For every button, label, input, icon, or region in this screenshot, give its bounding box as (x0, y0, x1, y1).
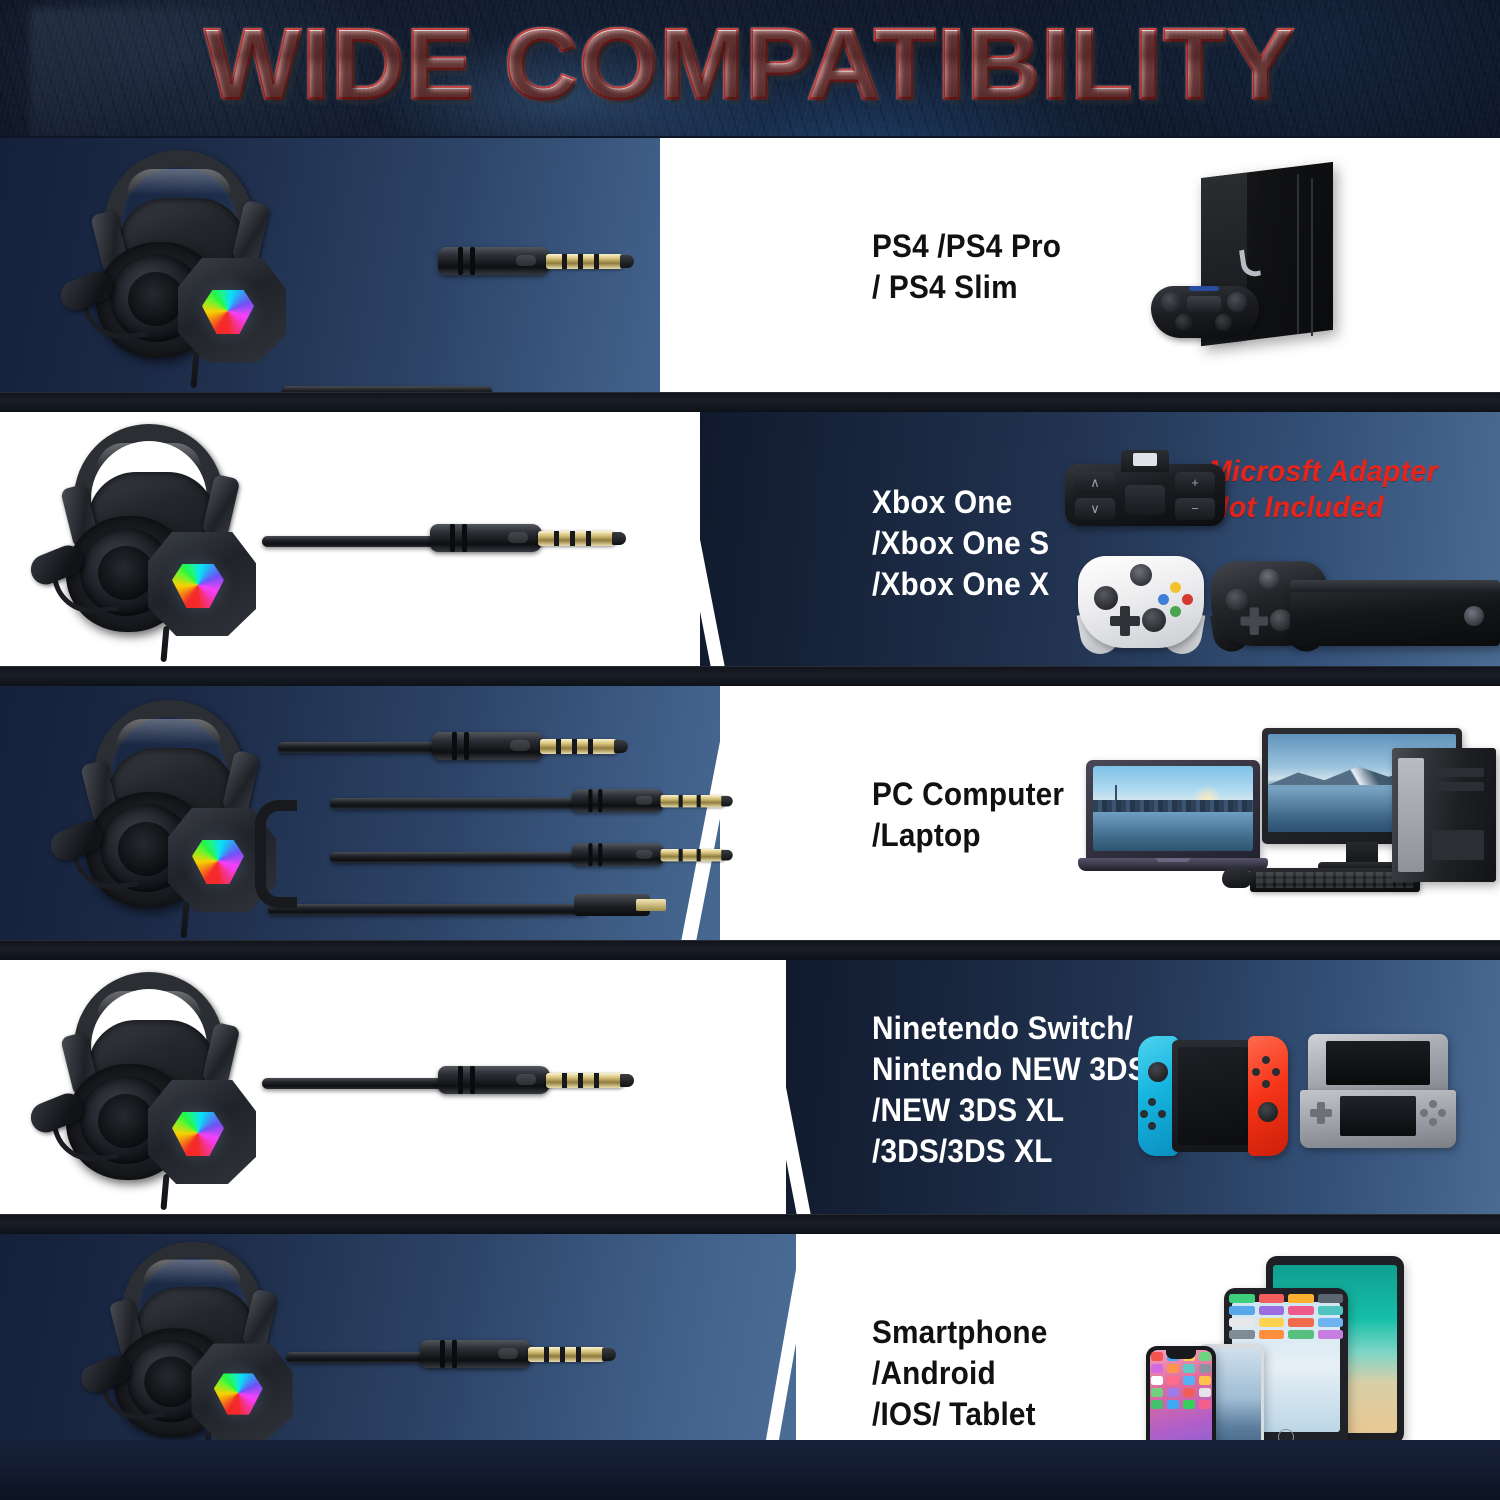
joycon-dpad-up (1148, 1098, 1156, 1106)
splitter-female-jack-contact (636, 899, 666, 911)
plug-pin (546, 1073, 626, 1088)
headset-image (86, 1238, 302, 1440)
laptop-image (1078, 760, 1268, 878)
button-x (1158, 594, 1169, 605)
plug-3-5mm-icon (432, 728, 620, 764)
plug-3-5mm-icon (430, 520, 618, 556)
plug-tip (602, 1348, 616, 1361)
button-y (1170, 582, 1181, 593)
plug-3-5mm-icon (438, 1062, 626, 1098)
plug-barrel (438, 247, 550, 275)
plug-tip (721, 796, 732, 807)
joycon-dpad-down (1148, 1122, 1156, 1130)
adapter-mute-icon[interactable] (1125, 485, 1165, 515)
plug-pin (661, 795, 727, 807)
plug-ring-1 (440, 1340, 445, 1368)
adapter-not-included-note: Microsft Adapter Not Included (1208, 454, 1438, 526)
mouse-image (1222, 866, 1252, 888)
controller-stick-left (1175, 314, 1192, 331)
plug-barrel (420, 1340, 532, 1368)
plug-tip (614, 740, 628, 753)
controller-stick-left (1226, 589, 1248, 611)
row-xbox: Xbox One /Xbox One S /Xbox One X Microsf… (0, 412, 1500, 666)
3ds-upper-screen (1326, 1041, 1430, 1085)
button-a (1170, 606, 1181, 617)
iphone-x-image (1146, 1346, 1216, 1440)
joycon-button-a (1272, 1068, 1280, 1076)
adapter-usb-icon (1133, 453, 1157, 466)
controller-stick-right (1142, 608, 1166, 632)
iphone-app-grid (1151, 1352, 1211, 1440)
dpad-horizontal (1110, 616, 1140, 626)
headset-cord (203, 1431, 212, 1440)
bottom-bar (0, 1440, 1500, 1500)
joycon-dpad-right (1158, 1110, 1166, 1118)
switch-screen (1172, 1040, 1254, 1152)
row-nintendo-label: Ninetendo Switch/ Nintendo NEW 3DS /NEW … (872, 1008, 1148, 1172)
adapter-volume-down-button[interactable]: − (1175, 498, 1215, 520)
row-ps4: PS4 /PS4 Pro / PS4 Slim (0, 138, 1500, 392)
header-banner: WIDE COMPATIBILITY (0, 0, 1500, 136)
plug-barrel (572, 789, 664, 812)
adapter-mic-down-button[interactable]: ∨ (1075, 498, 1115, 520)
splitter-female-cable (268, 904, 588, 915)
plug-ring-2 (452, 1340, 457, 1368)
plug-ring-1 (452, 732, 457, 760)
plug-pin (661, 849, 727, 861)
wallpaper-skyline (1093, 800, 1253, 812)
controller-face-buttons (1227, 292, 1247, 312)
audio-cable (262, 1078, 462, 1089)
xbox-one-x-console-image (1290, 580, 1500, 656)
plug-ring-2 (470, 1066, 475, 1094)
plug-pin (540, 739, 620, 754)
row-pc-label: PC Computer /Laptop (872, 774, 1064, 856)
plug-pin (538, 531, 618, 546)
ipad-home-button[interactable] (1278, 1429, 1294, 1440)
controller-lightbar (1189, 286, 1219, 291)
nintendo-new-3ds-xl-image (1300, 1034, 1456, 1150)
nintendo-switch-image (1138, 1036, 1288, 1156)
laptop-notch (1156, 858, 1190, 862)
joycon-dpad-left (1140, 1110, 1148, 1118)
plug-barrel (572, 843, 664, 866)
splitter-branch-cable-1 (330, 798, 590, 809)
3ds-touch-screen (1340, 1096, 1416, 1136)
tower-vent (1432, 830, 1484, 860)
row-pc: PC Computer /Laptop (0, 686, 1500, 940)
controller-touchpad (1187, 296, 1221, 312)
plug-tip (620, 255, 634, 268)
splitter-plug-mic (572, 786, 726, 816)
adapter-mic-up-button[interactable]: ∧ (1075, 472, 1115, 494)
plug-ring-1 (458, 247, 463, 275)
ps4-vent-2 (1311, 178, 1313, 336)
iphone-notch (1166, 1350, 1196, 1359)
console-top-panel (1290, 580, 1500, 592)
xbox-guide-button-icon (1259, 569, 1279, 589)
iphone-screen (1150, 1350, 1212, 1440)
controller-stick-left (1094, 586, 1118, 610)
ps4-vent-1 (1297, 174, 1299, 334)
joycon-button-x (1262, 1056, 1270, 1064)
pc-tower-image (1392, 748, 1496, 882)
laptop-lid (1086, 760, 1260, 860)
xbox-logo-icon (1464, 606, 1484, 626)
xbox-controller-white-image (1078, 542, 1204, 654)
splitter-plug-audio (572, 840, 726, 870)
row-ps4-label: PS4 /PS4 Pro / PS4 Slim (872, 226, 1061, 308)
xbox-headset-adapter-image: ∧ ∨ + − (1065, 450, 1225, 528)
laptop-screen (1093, 766, 1253, 851)
row-nintendo: Ninetendo Switch/ Nintendo NEW 3DS /NEW … (0, 960, 1500, 1214)
plug-3-5mm-icon (438, 243, 626, 279)
plug-ring-1 (450, 524, 455, 552)
plug-pin (528, 1347, 608, 1362)
plug-barrel (430, 524, 542, 552)
dualshock4-controller-image (1145, 276, 1265, 348)
joycon-button-y (1252, 1068, 1260, 1076)
headset-image (66, 146, 296, 381)
row-mobile: Smartphone /Android /IOS/ Tablet (0, 1234, 1500, 1440)
controller-dpad (1161, 292, 1181, 312)
row-mobile-label: Smartphone /Android /IOS/ Tablet (872, 1312, 1047, 1435)
headset-image (36, 420, 266, 655)
plug-ring-1 (458, 1066, 463, 1094)
plug-ring-2 (470, 247, 475, 275)
controller-stick-right (1215, 314, 1232, 331)
page-title: WIDE COMPATIBILITY (0, 12, 1500, 116)
compatibility-infographic: WIDE COMPATIBILITY (0, 0, 1500, 1500)
plug-pin (546, 254, 626, 269)
controller-stick-right (1270, 609, 1292, 631)
joycon-left-stick (1148, 1062, 1168, 1082)
xbox-guide-button-icon (1130, 564, 1152, 586)
wallpaper-water (1093, 812, 1253, 851)
plug-tip (721, 850, 732, 861)
row-xbox-label: Xbox One /Xbox One S /Xbox One X (872, 482, 1049, 605)
plug-ring-2 (462, 524, 467, 552)
joycon-right-stick (1258, 1102, 1278, 1122)
audio-cable-main (278, 742, 458, 753)
plug-3-5mm-icon (420, 1336, 608, 1372)
cable-loop (255, 800, 297, 908)
row-separator-3 (0, 940, 1500, 960)
button-b (1182, 594, 1193, 605)
headset-image (36, 968, 266, 1203)
joycon-right (1248, 1036, 1288, 1156)
plug-ring-2 (464, 732, 469, 760)
adapter-volume-up-button[interactable]: + (1175, 472, 1215, 494)
plug-tip (620, 1074, 634, 1087)
plug-tip (612, 532, 626, 545)
tower-drive-bay-2 (1432, 782, 1484, 791)
joycon-button-b (1262, 1080, 1270, 1088)
plug-barrel (432, 732, 544, 760)
plug-barrel (438, 1066, 550, 1094)
dpad-horizontal (1240, 617, 1268, 626)
splitter-branch-cable-2 (330, 852, 590, 863)
row-separator-2 (0, 666, 1500, 686)
tower-drive-bay-1 (1432, 768, 1484, 777)
monitor-stand (1346, 842, 1378, 864)
row-separator-1 (0, 392, 1500, 412)
3ds-face-buttons (1420, 1100, 1446, 1126)
row-separator-4 (0, 1214, 1500, 1234)
3ds-dpad (1310, 1102, 1332, 1124)
headset-image (56, 696, 286, 931)
ps4-console-image (1145, 156, 1395, 371)
